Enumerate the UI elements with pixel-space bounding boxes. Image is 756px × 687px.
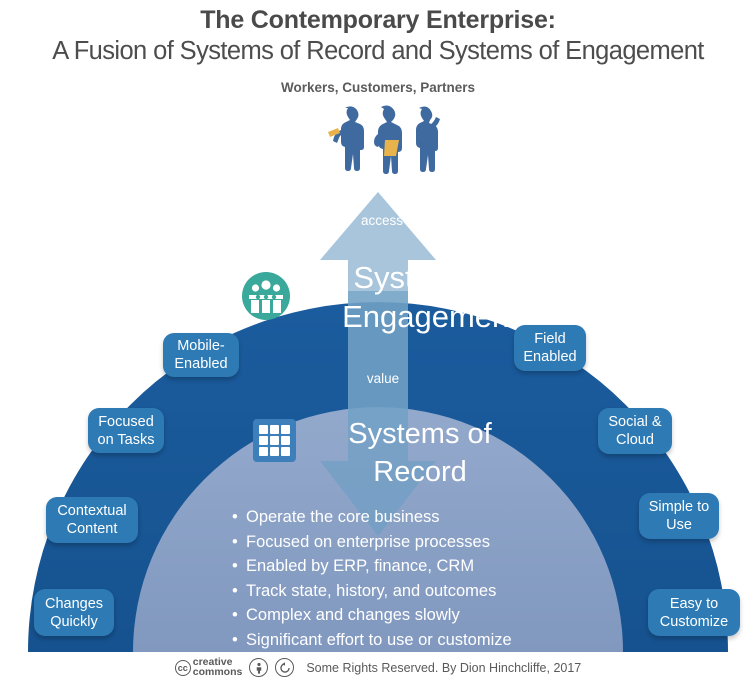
people-silhouettes-icon bbox=[318, 104, 444, 186]
badge-field-enabled[interactable]: Field Enabled bbox=[514, 325, 586, 371]
soe-title-line-1: Systems of bbox=[300, 258, 560, 297]
people-group-icon bbox=[241, 271, 291, 321]
rights-text: Some Rights Reserved. By Dion Hinchcliff… bbox=[306, 661, 581, 675]
cc-wordmark-line-2: commons bbox=[193, 668, 243, 678]
badge-label: Changes Quickly bbox=[45, 595, 103, 631]
page-title-line-1: The Contemporary Enterprise: bbox=[0, 6, 756, 35]
badge-label: Focused on Tasks bbox=[98, 413, 155, 449]
badge-contextual-content[interactable]: Contextual Content bbox=[46, 497, 138, 543]
access-arrow-label: access bbox=[340, 213, 424, 228]
circular-arrow-glyph bbox=[279, 662, 291, 674]
share-alike-icon bbox=[275, 658, 294, 677]
badge-label: Mobile- Enabled bbox=[174, 337, 227, 373]
systems-of-record-bullet-list: Operate the core businessFocused on ente… bbox=[232, 505, 562, 652]
value-arrow-label: value bbox=[348, 371, 418, 386]
badge-label: Easy to Customize bbox=[660, 595, 729, 631]
record-bullet-item: Complex and changes slowly bbox=[232, 603, 562, 628]
creative-commons-logo-icon: cc creative commons bbox=[175, 658, 243, 677]
systems-of-engagement-title: Systems of Engagement bbox=[300, 258, 560, 336]
badge-label: Contextual Content bbox=[57, 502, 126, 538]
cc-wordmark: creative commons bbox=[193, 658, 243, 677]
record-bullet-item: Enabled by ERP, finance, CRM bbox=[232, 554, 562, 579]
systems-of-record-title: Systems of Record bbox=[300, 415, 540, 491]
footer: cc creative commons Some Rights Reserved… bbox=[0, 658, 756, 677]
badge-easy-to-customize[interactable]: Easy to Customize bbox=[648, 589, 740, 636]
grid-icon bbox=[252, 418, 297, 463]
badge-label: Simple to Use bbox=[649, 498, 709, 534]
page-title-line-2: A Fusion of Systems of Record and System… bbox=[0, 37, 756, 66]
record-bullet-item: Track state, history, and outcomes bbox=[232, 579, 562, 604]
sor-title-line-1: Systems of bbox=[300, 415, 540, 453]
record-bullet-item: Operate the core business bbox=[232, 505, 562, 530]
badge-social-cloud[interactable]: Social & Cloud bbox=[598, 408, 672, 454]
by-icon bbox=[249, 658, 268, 677]
badge-label: Social & Cloud bbox=[608, 413, 661, 449]
badge-changes-quickly[interactable]: Changes Quickly bbox=[34, 589, 114, 636]
badge-simple-to-use[interactable]: Simple to Use bbox=[639, 493, 719, 539]
badge-focused-on-tasks[interactable]: Focused on Tasks bbox=[88, 408, 164, 453]
infographic-canvas: The Contemporary Enterprise: A Fusion of… bbox=[0, 0, 756, 687]
person-glyph bbox=[253, 662, 265, 674]
sor-title-line-2: Record bbox=[300, 453, 540, 491]
badge-label: Field Enabled bbox=[523, 330, 576, 366]
badge-mobile-enabled[interactable]: Mobile- Enabled bbox=[163, 333, 239, 377]
record-bullet-item: Focused on enterprise processes bbox=[232, 530, 562, 555]
cc-mark-icon: cc bbox=[175, 660, 191, 676]
page-subtitle: Workers, Customers, Partners bbox=[0, 80, 756, 95]
record-bullet-item: Significant effort to use or customize bbox=[232, 628, 562, 653]
